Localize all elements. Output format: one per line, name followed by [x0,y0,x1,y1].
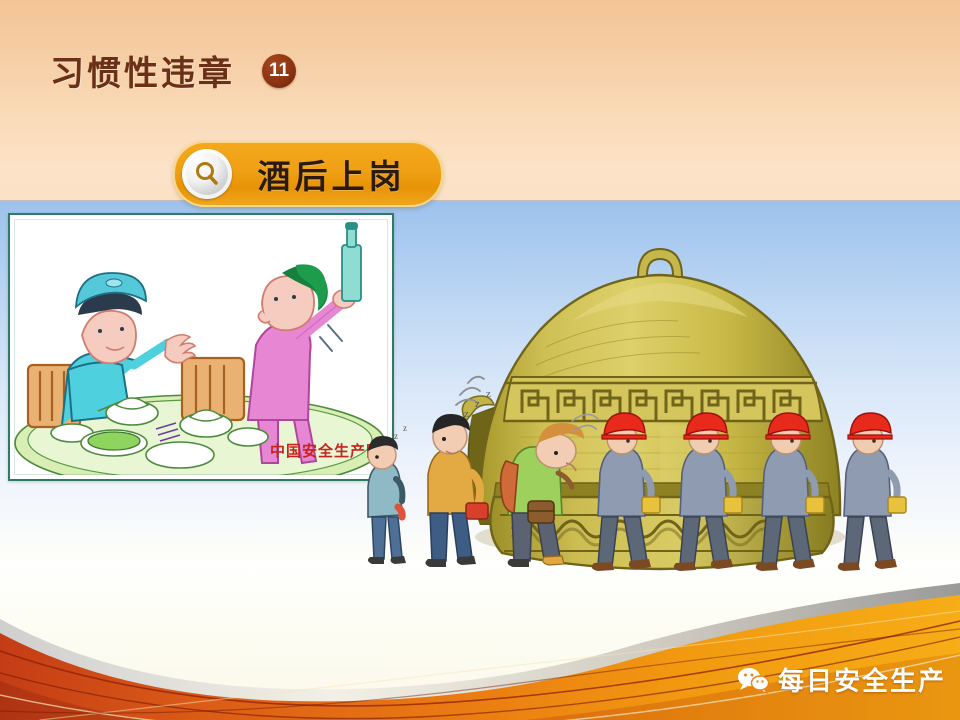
cartoon-panel: 中国安全生产网 [8,213,394,481]
channel-watermark: 每日安全生产 [737,661,946,698]
svg-text:z: z [403,423,407,433]
section-number-badge: 11 [262,54,296,88]
topic-button[interactable]: 酒后上岗 [173,141,443,207]
slide-canvas: 习惯性违章 11 酒后上岗 [0,0,960,720]
tired-worker: zz [368,423,407,564]
svg-text:z: z [394,431,398,441]
svg-text:z: z [464,408,469,420]
topic-button-label: 酒后上岗 [232,150,441,198]
cartoon-illustration [10,215,388,475]
svg-text:z: z [475,398,480,410]
magnifier-icon [182,149,232,199]
wechat-icon [737,666,769,694]
svg-text:z: z [486,388,491,400]
page-title: 习惯性违章 [50,46,235,95]
header-divider [0,200,960,201]
channel-name: 每日安全生产 [778,661,946,698]
bell-illustration: zz zzz [360,225,960,575]
header-background [0,0,960,201]
